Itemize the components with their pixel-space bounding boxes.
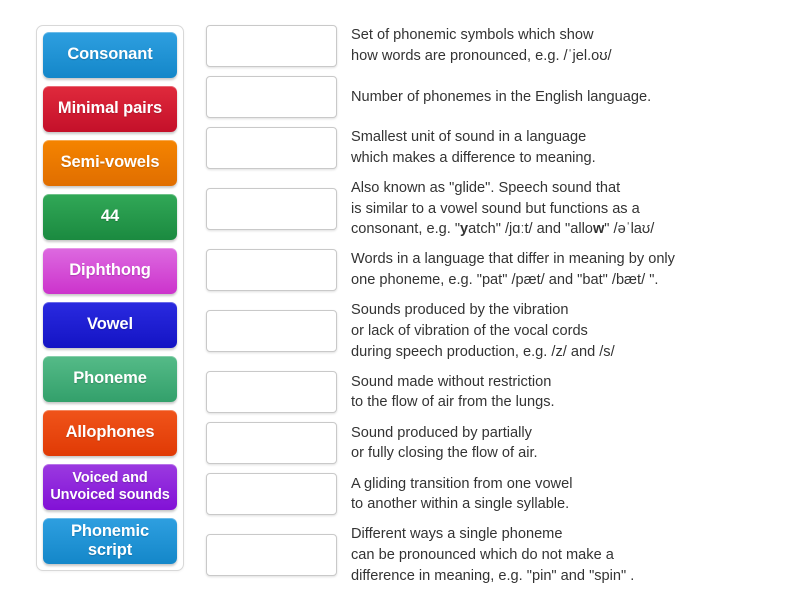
draggable-tiles-panel: ConsonantMinimal pairsSemi-vowels44Dipht… bbox=[36, 25, 184, 571]
answer-tile[interactable]: 44 bbox=[43, 194, 177, 240]
match-row: Words in a language that differ in meani… bbox=[206, 249, 800, 291]
answer-dropzone[interactable] bbox=[206, 76, 337, 118]
match-row: Sound produced by partially or fully clo… bbox=[206, 422, 800, 464]
match-row: Sounds produced by the vibration or lack… bbox=[206, 300, 800, 362]
match-row: A gliding transition from one vowel to a… bbox=[206, 473, 800, 515]
match-row: Number of phonemes in the English langua… bbox=[206, 76, 800, 118]
answer-tile[interactable]: Consonant bbox=[43, 32, 177, 78]
answer-dropzone[interactable] bbox=[206, 249, 337, 291]
definition-text: A gliding transition from one vowel to a… bbox=[351, 474, 800, 515]
match-row: Smallest unit of sound in a language whi… bbox=[206, 127, 800, 169]
answer-tile[interactable]: Semi-vowels bbox=[43, 140, 177, 186]
definition-text: Also known as "glide". Speech sound that… bbox=[351, 178, 800, 240]
definition-text: Sound produced by partially or fully clo… bbox=[351, 423, 800, 464]
answer-dropzone[interactable] bbox=[206, 127, 337, 169]
match-row: Different ways a single phoneme can be p… bbox=[206, 524, 800, 586]
match-up-activity: ConsonantMinimal pairsSemi-vowels44Dipht… bbox=[0, 0, 800, 600]
answer-tile[interactable]: Diphthong bbox=[43, 248, 177, 294]
answer-tile[interactable]: Phoneme bbox=[43, 356, 177, 402]
definition-text: Number of phonemes in the English langua… bbox=[351, 87, 800, 108]
answer-dropzone[interactable] bbox=[206, 310, 337, 352]
definition-text: Sound made without restriction to the fl… bbox=[351, 372, 800, 413]
answer-tile[interactable]: Allophones bbox=[43, 410, 177, 456]
answer-dropzone[interactable] bbox=[206, 371, 337, 413]
answer-dropzone[interactable] bbox=[206, 422, 337, 464]
answer-dropzone[interactable] bbox=[206, 534, 337, 576]
definition-text: Smallest unit of sound in a language whi… bbox=[351, 127, 800, 168]
answer-tile[interactable]: Vowel bbox=[43, 302, 177, 348]
answer-dropzone[interactable] bbox=[206, 188, 337, 230]
match-row: Sound made without restriction to the fl… bbox=[206, 371, 800, 413]
answer-tile[interactable]: Minimal pairs bbox=[43, 86, 177, 132]
definition-text: Set of phonemic symbols which show how w… bbox=[351, 25, 800, 66]
definition-text: Sounds produced by the vibration or lack… bbox=[351, 300, 800, 362]
answer-tile[interactable]: Phonemic script bbox=[43, 518, 177, 564]
match-rows-list: Set of phonemic symbols which show how w… bbox=[206, 25, 800, 595]
answer-tile[interactable]: Voiced and Unvoiced sounds bbox=[43, 464, 177, 510]
match-row: Set of phonemic symbols which show how w… bbox=[206, 25, 800, 67]
answer-dropzone[interactable] bbox=[206, 473, 337, 515]
definition-text: Different ways a single phoneme can be p… bbox=[351, 524, 800, 586]
definition-text: Words in a language that differ in meani… bbox=[351, 249, 800, 290]
answer-dropzone[interactable] bbox=[206, 25, 337, 67]
match-row: Also known as "glide". Speech sound that… bbox=[206, 178, 800, 240]
